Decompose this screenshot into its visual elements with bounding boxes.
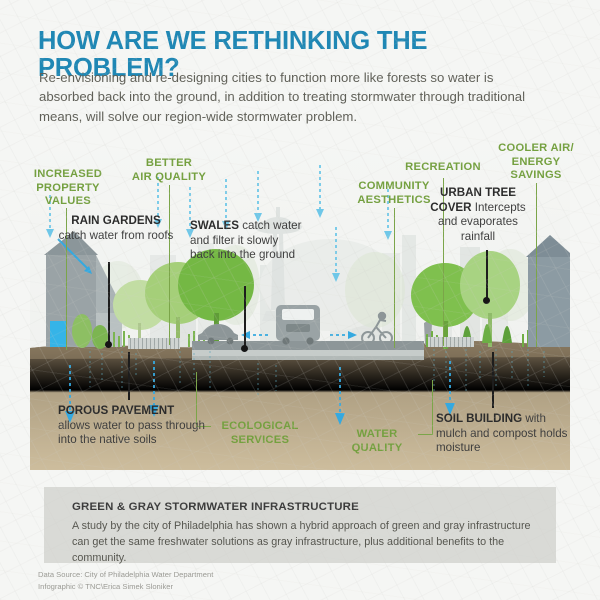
footer-panel-body: A study by the city of Philadelphia has … <box>72 519 534 567</box>
leader-line-community-aesthetics <box>394 208 395 348</box>
credits: Data Source: City of Philadelphia Water … <box>38 569 213 592</box>
callout-rain-gardens: RAIN GARDENS catch water from roofs <box>56 214 176 243</box>
callout-term: SWALES <box>190 219 239 232</box>
leader-line-swales <box>244 286 246 348</box>
label-line: BETTER <box>120 157 218 171</box>
page-subtitle: Re-envisioning and re-designing cities t… <box>39 68 551 126</box>
label-line: ECOLOGICAL <box>208 420 312 434</box>
porous-pavement-patch <box>428 337 474 347</box>
callout-term: SOIL BUILDING <box>436 412 522 425</box>
leader-line-porous-pavement <box>128 352 130 400</box>
callout-soil-building: SOIL BUILDING with mulch and compost hol… <box>436 412 580 456</box>
label-recreation: RECREATION <box>394 161 492 175</box>
leader-line-cooler-air-energy-savings <box>536 183 537 347</box>
callout-term: POROUS PAVEMENT <box>58 404 174 417</box>
label-line: COOLER AIR/ <box>484 142 588 156</box>
leader-line-better-air-quality <box>169 185 170 345</box>
infographic-canvas: HOW ARE WE RETHINKING THE PROBLEM? Re-en… <box>0 0 600 600</box>
rain-barrel <box>50 321 67 347</box>
callout-desc: catch water from roofs <box>59 229 174 242</box>
footer-panel-title: GREEN & GRAY STORMWATER INFRASTRUCTURE <box>72 501 359 513</box>
leader-dot-urban-tree-cover <box>483 297 490 304</box>
credit-source: Data Source: City of Philadelphia Water … <box>38 569 213 581</box>
bus-icon <box>276 305 320 345</box>
label-line: PROPERTY <box>18 182 118 196</box>
leader-line-rain-gardens <box>108 262 110 344</box>
label-better-air-quality: BETTER AIR QUALITY <box>120 157 218 184</box>
leader-line-urban-tree-cover <box>486 250 488 300</box>
label-ecological-services: ECOLOGICAL SERVICES <box>208 420 312 447</box>
label-water-quality: WATER QUALITY <box>336 428 418 455</box>
credit-author: Infographic © TNC\Erica Simek Sloniker <box>38 581 213 593</box>
label-line: AIR QUALITY <box>120 171 218 185</box>
porous-pavement-patch <box>128 338 180 349</box>
footer-panel: GREEN & GRAY STORMWATER INFRASTRUCTURE A… <box>44 487 556 563</box>
label-cooler-air-energy-savings: COOLER AIR/ ENERGY SAVINGS <box>484 142 588 183</box>
label-line: WATER <box>336 428 418 442</box>
callout-porous-pavement: POROUS PAVEMENT allows water to pass thr… <box>58 404 208 448</box>
label-line: SAVINGS <box>484 169 588 183</box>
callout-desc: allows water to pass through into the na… <box>58 419 205 447</box>
callout-term: RAIN GARDENS <box>71 214 161 227</box>
callout-urban-tree-cover: URBAN TREE COVER Intercepts and evaporat… <box>422 186 534 244</box>
leader-dot-swales <box>241 345 248 352</box>
label-line: QUALITY <box>336 442 418 456</box>
right-building <box>526 235 570 347</box>
label-line: ENERGY <box>484 156 588 170</box>
leader-line-soil-building <box>492 352 494 408</box>
leader-dot-rain-gardens <box>105 341 112 348</box>
label-line: VALUES <box>18 195 118 209</box>
label-line: INCREASED <box>18 168 118 182</box>
leader-elbow-water-quality <box>418 380 433 435</box>
callout-swales: SWALES catch water and filter it slowly … <box>190 219 302 263</box>
label-line: RECREATION <box>394 161 492 175</box>
label-increased-property-values: INCREASED PROPERTY VALUES <box>18 168 118 209</box>
label-line: SERVICES <box>208 434 312 448</box>
